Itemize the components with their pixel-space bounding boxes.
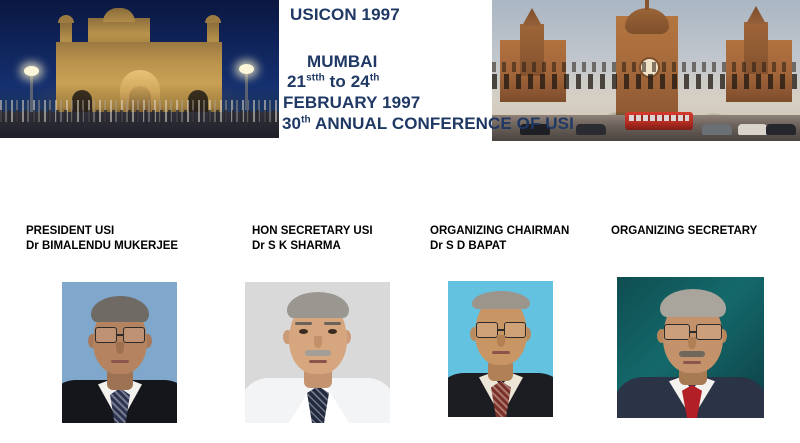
official-name-organizing-chairman: Dr S D BAPAT (430, 239, 569, 254)
nose (314, 336, 322, 348)
official-label-hon-secretary: HON SECRETARY USI Dr S K SHARMA (252, 224, 373, 254)
conference-edition-line: 30th ANNUAL CONFERENCE OF USI (282, 113, 642, 134)
eyebrow-left (295, 322, 312, 325)
official-role-hon-secretary: HON SECRETARY USI (252, 224, 373, 239)
nose (688, 337, 696, 349)
mouth (309, 360, 327, 363)
organizing-chairman-portrait (448, 281, 553, 417)
date-separator: to 24 (325, 72, 370, 91)
official-role-organizing-chairman: ORGANIZING CHAIRMAN (430, 224, 569, 239)
mouth (683, 361, 701, 364)
date-end-suffix: th (370, 72, 380, 83)
edition-number: 30 (282, 114, 301, 133)
conference-dates-line: 21stth to 24th (282, 71, 642, 92)
lens-left (95, 327, 117, 343)
conference-city-line: MUMBAI (282, 24, 642, 71)
street-lamp-left (30, 72, 33, 112)
hon-secretary-usi-portrait (245, 282, 390, 423)
eye-left (299, 329, 308, 334)
lens-left (664, 324, 690, 340)
eyebrow-right (324, 322, 341, 325)
date-start: 21 (287, 72, 306, 91)
official-name-president: Dr BIMALENDU MUKERJEE (26, 239, 178, 254)
conference-title-slide: USICON 1997 MUMBAI 21stth to 24th FEBRUA… (0, 0, 800, 443)
cst-spire (645, 0, 649, 10)
official-role-organizing-secretary: ORGANIZING SECRETARY (611, 224, 757, 239)
lens-left (476, 322, 498, 338)
nose (116, 342, 124, 354)
conference-code-line: USICON 1997 (282, 0, 642, 24)
lens-right (504, 322, 526, 338)
date-start-suffix-1: st (306, 72, 315, 83)
official-name-hon-secretary: Dr S K SHARMA (252, 239, 373, 254)
official-label-organizing-secretary: ORGANIZING SECRETARY (611, 224, 757, 239)
gateway-of-india-photo (0, 0, 279, 138)
conference-title-block: USICON 1997 MUMBAI 21stth to 24th FEBRUA… (282, 0, 642, 134)
lens-right (696, 324, 722, 340)
mouth (111, 360, 129, 363)
gateway-upper-block (88, 18, 150, 45)
mustache (679, 351, 705, 357)
hair (91, 296, 149, 322)
mustache (305, 350, 331, 356)
hair (287, 292, 349, 318)
hair (472, 291, 530, 309)
president-usi-portrait (62, 282, 177, 423)
gateway-crowd-near (0, 110, 279, 125)
street-car-3 (702, 124, 732, 135)
date-start-suffix-2: th (315, 72, 325, 83)
official-label-president: PRESIDENT USI Dr BIMALENDU MUKERJEE (26, 224, 178, 254)
conference-month-year-line: FEBRUARY 1997 (282, 92, 642, 113)
lens-right (123, 327, 145, 343)
edition-text: ANNUAL CONFERENCE OF USI (311, 114, 574, 133)
official-role-president: PRESIDENT USI (26, 224, 178, 239)
edition-suffix: th (301, 114, 311, 125)
hair (660, 289, 726, 317)
mouth (492, 351, 510, 354)
organizing-secretary-portrait (617, 277, 764, 418)
street-car-4 (738, 124, 768, 135)
nose (497, 335, 505, 347)
street-car-5 (766, 124, 796, 135)
official-label-organizing-chairman: ORGANIZING CHAIRMAN Dr S D BAPAT (430, 224, 569, 254)
eyeglasses (95, 328, 145, 342)
officials-label-row: PRESIDENT USI Dr BIMALENDU MUKERJEE HON … (0, 220, 800, 270)
eye-right (328, 329, 337, 334)
street-lamp-right (245, 70, 248, 110)
